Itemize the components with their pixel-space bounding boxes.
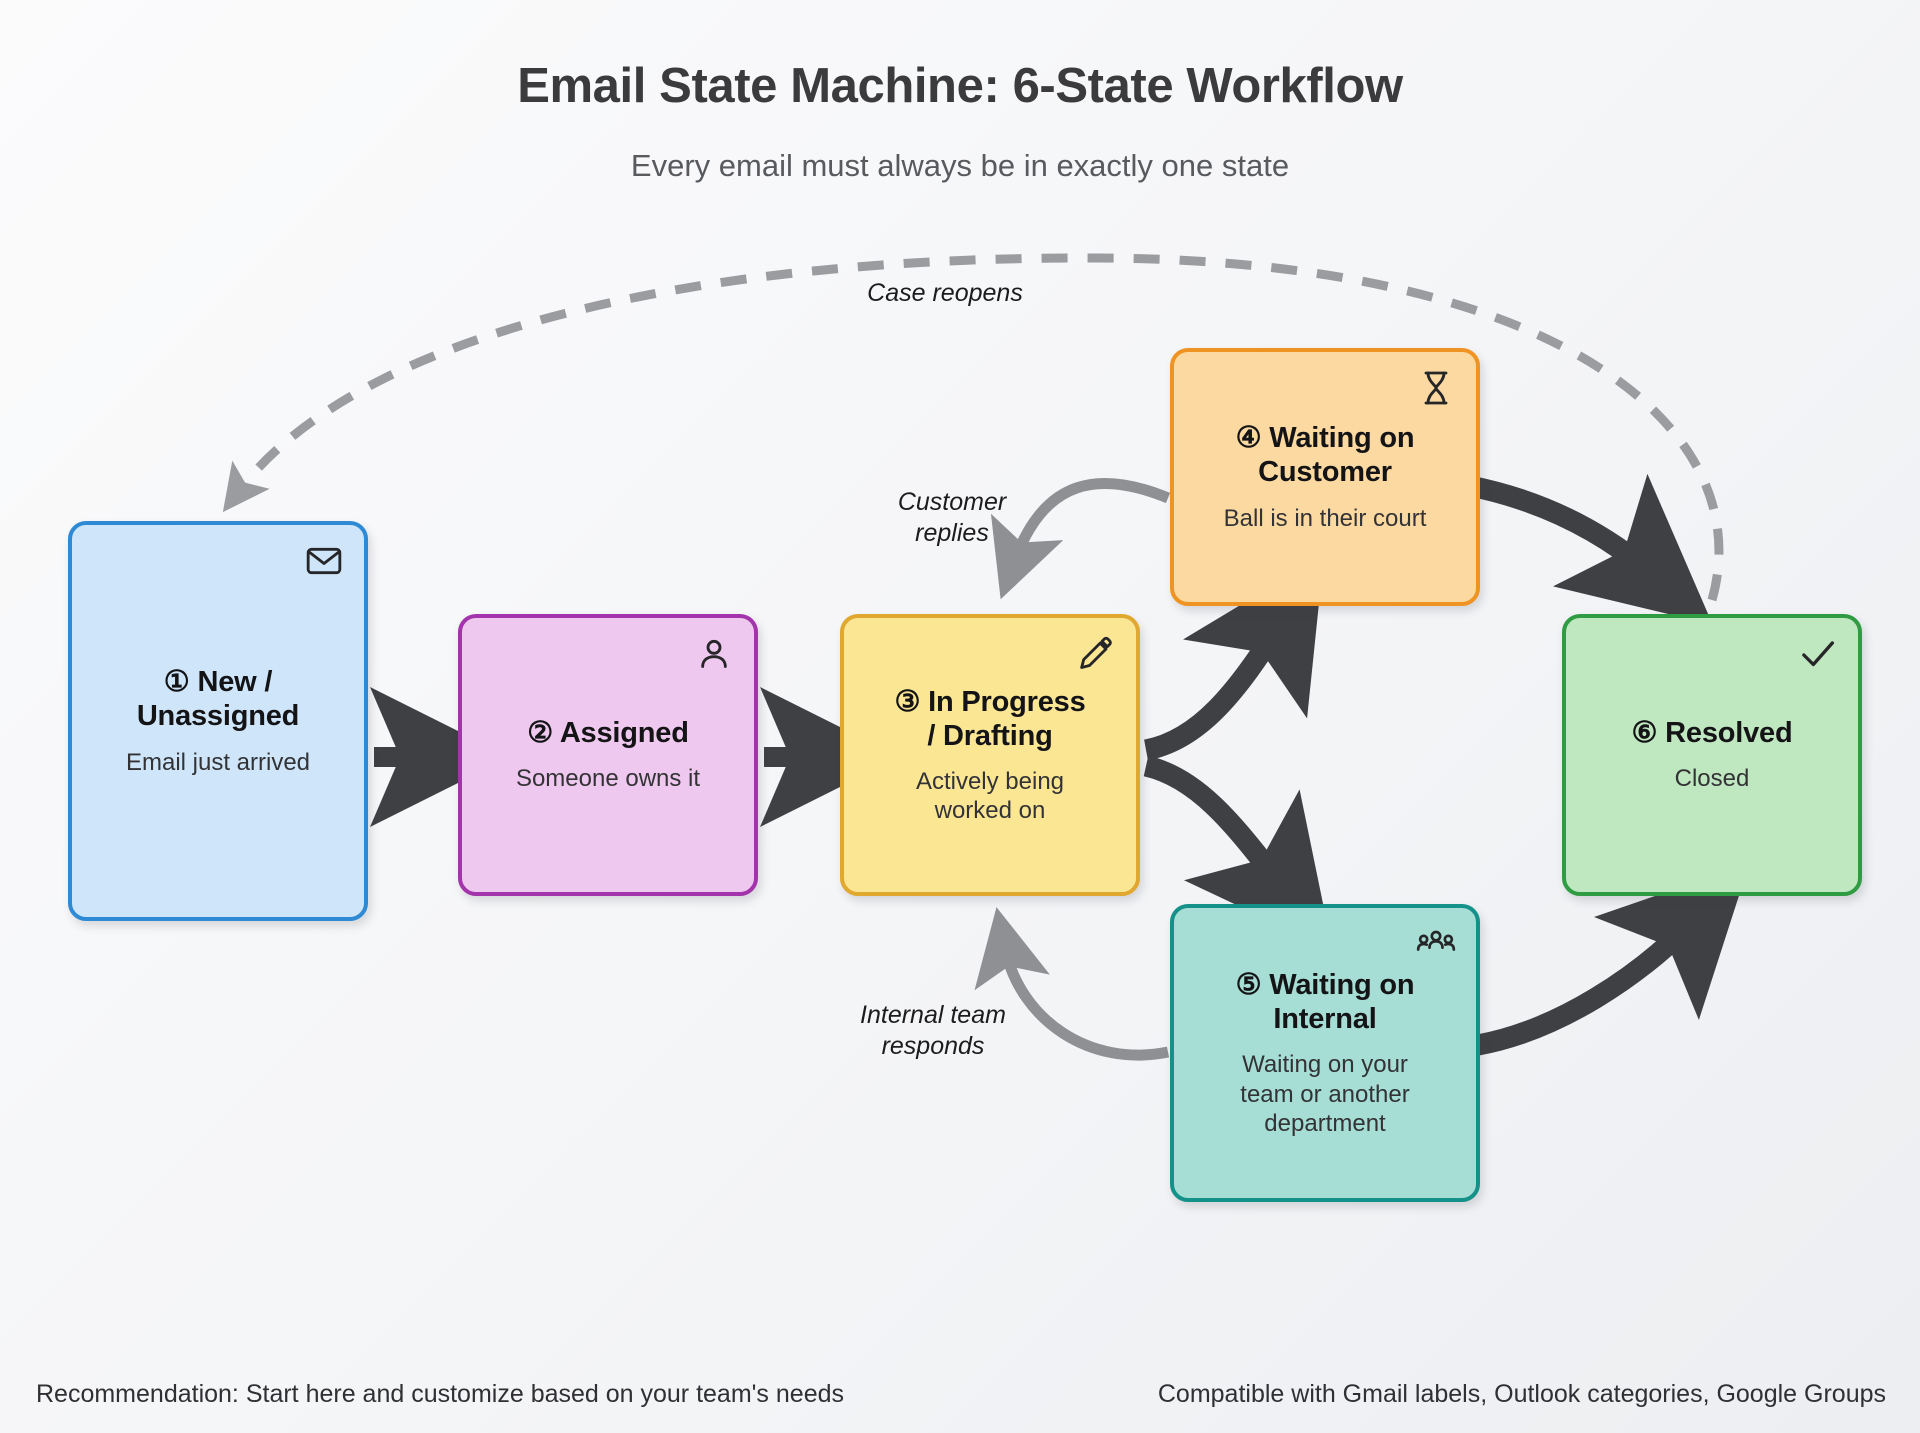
node-desc-line2: worked on	[935, 797, 1046, 824]
node-desc-line1: Actively being	[916, 768, 1064, 795]
state-node-waiting-on-internal[interactable]: ⑤ Waiting on Internal Waiting on your te…	[1170, 904, 1480, 1202]
edge-progress-to-waitcustomer	[1146, 624, 1280, 750]
node-title-line2: / Drafting	[927, 720, 1052, 752]
edge-resolved-to-new-reopen	[238, 258, 1719, 600]
node-title: ② Assigned	[527, 716, 689, 750]
page-title: Email State Machine: 6-State Workflow	[0, 58, 1920, 114]
node-description: Closed	[1675, 764, 1750, 793]
node-description: Waiting on your team or another departme…	[1240, 1050, 1409, 1138]
person-icon	[694, 634, 734, 674]
node-desc-line3: department	[1264, 1110, 1385, 1137]
node-title-line1: ② Assigned	[527, 717, 689, 749]
node-title-line2: Customer	[1258, 456, 1392, 488]
node-title-line2: Internal	[1273, 1003, 1376, 1035]
node-description: Actively being worked on	[916, 767, 1064, 826]
edge-label-case-reopens: Case reopens	[795, 278, 1095, 309]
node-title-line2: Unassigned	[137, 700, 299, 732]
state-node-new-unassigned[interactable]: ① New / Unassigned Email just arrived	[68, 521, 368, 921]
edge-waitinternal-to-resolved	[1478, 922, 1692, 1045]
node-desc-line2: team or another	[1240, 1081, 1409, 1108]
node-title-line1: ⑥ Resolved	[1632, 717, 1793, 749]
state-node-in-progress-drafting[interactable]: ③ In Progress / Drafting Actively being …	[840, 614, 1140, 896]
node-title-line1: ① New /	[164, 666, 272, 698]
node-description: Email just arrived	[126, 748, 310, 777]
check-icon	[1798, 634, 1838, 674]
state-node-assigned[interactable]: ② Assigned Someone owns it	[458, 614, 758, 896]
edge-progress-to-waitinternal	[1146, 766, 1282, 886]
node-description: Ball is in their court	[1224, 504, 1427, 533]
footer-compatibility: Compatible with Gmail labels, Outlook ca…	[1158, 1380, 1886, 1409]
diagram-canvas: Email State Machine: 6-State Workflow Ev…	[0, 0, 1920, 1433]
state-node-waiting-on-customer[interactable]: ④ Waiting on Customer Ball is in their c…	[1170, 348, 1480, 606]
hourglass-icon	[1416, 368, 1456, 408]
page-subtitle: Every email must always be in exactly on…	[0, 148, 1920, 184]
node-title-line1: ⑤ Waiting on	[1236, 969, 1415, 1001]
node-title: ⑤ Waiting on Internal	[1236, 968, 1415, 1036]
node-title: ⑥ Resolved	[1632, 716, 1793, 750]
node-title: ④ Waiting on Customer	[1236, 421, 1415, 489]
node-description: Someone owns it	[516, 764, 700, 793]
people-group-icon	[1416, 924, 1456, 964]
envelope-icon	[304, 541, 344, 581]
edge-label-internal-team-responds: Internal team responds	[818, 1000, 1048, 1061]
node-title-line1: ④ Waiting on	[1236, 422, 1415, 454]
node-title: ③ In Progress / Drafting	[894, 685, 1085, 753]
edge-label-customer-replies: Customer replies	[852, 487, 1052, 548]
edge-waitcustomer-to-resolved	[1470, 486, 1650, 572]
node-desc-line1: Waiting on your	[1242, 1051, 1408, 1078]
node-title: ① New / Unassigned	[137, 665, 299, 733]
node-title-line1: ③ In Progress	[894, 686, 1085, 718]
state-node-resolved[interactable]: ⑥ Resolved Closed	[1562, 614, 1862, 896]
pencil-edit-icon	[1076, 634, 1116, 674]
footer-recommendation: Recommendation: Start here and customize…	[36, 1380, 844, 1409]
